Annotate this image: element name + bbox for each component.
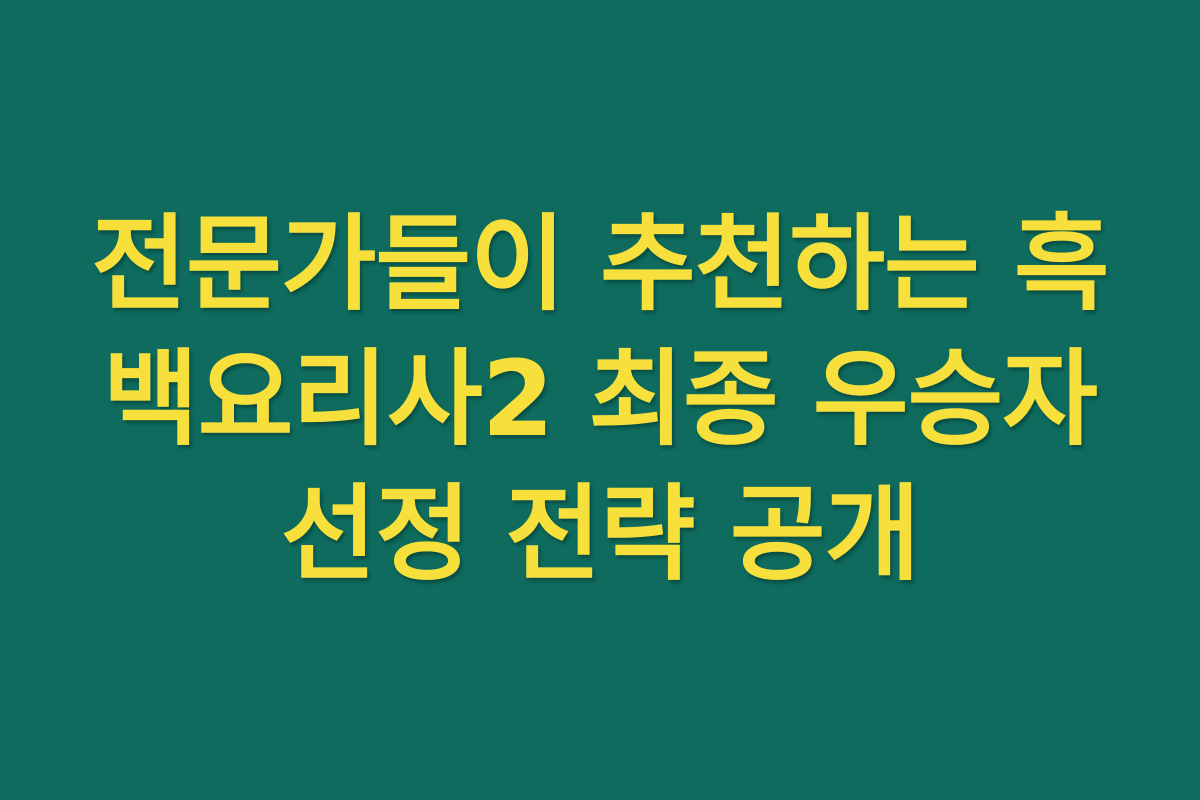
headline-line-3: 선정 전략 공개 — [40, 467, 1160, 602]
thumbnail-canvas: 전문가들이 추천하는 흑 백요리사2 최종 우승자 선정 전략 공개 — [0, 0, 1200, 800]
headline-line-2: 백요리사2 최종 우승자 — [40, 332, 1160, 467]
headline-line-1: 전문가들이 추천하는 흑 — [40, 197, 1160, 332]
headline-text: 전문가들이 추천하는 흑 백요리사2 최종 우승자 선정 전략 공개 — [0, 197, 1200, 602]
